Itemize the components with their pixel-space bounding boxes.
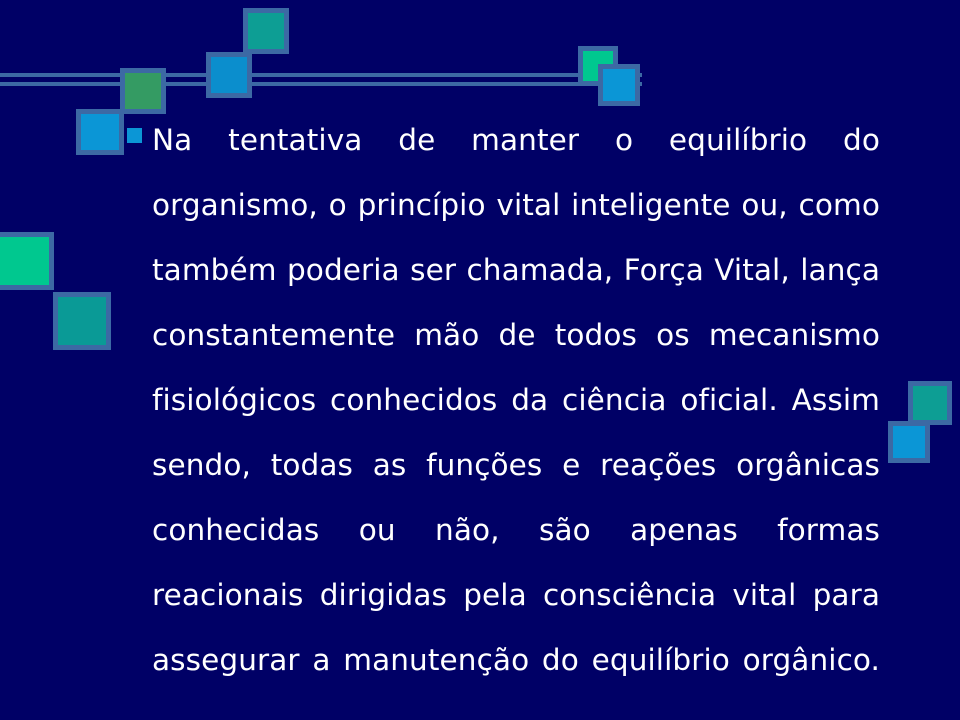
decorative-square-blue-left: [76, 109, 124, 155]
decorative-square-teal-edge: [53, 292, 111, 350]
bullet-square-icon: [127, 128, 142, 143]
decorative-square-blue-midright: [888, 421, 930, 463]
decorative-square-green-edge: [0, 232, 54, 290]
slide-body-text: Na tentativa de manter o equilíbrio do o…: [152, 108, 880, 720]
decorative-rule-upper: [0, 73, 642, 77]
decorative-square-blue-top: [206, 52, 252, 98]
decorative-square-blue-right: [598, 64, 640, 106]
decorative-square-teal-top: [243, 8, 289, 54]
decorative-rule-lower: [0, 82, 642, 86]
decorative-square-teal-midright: [908, 381, 952, 425]
slide-canvas: Na tentativa de manter o equilíbrio do o…: [0, 0, 960, 720]
